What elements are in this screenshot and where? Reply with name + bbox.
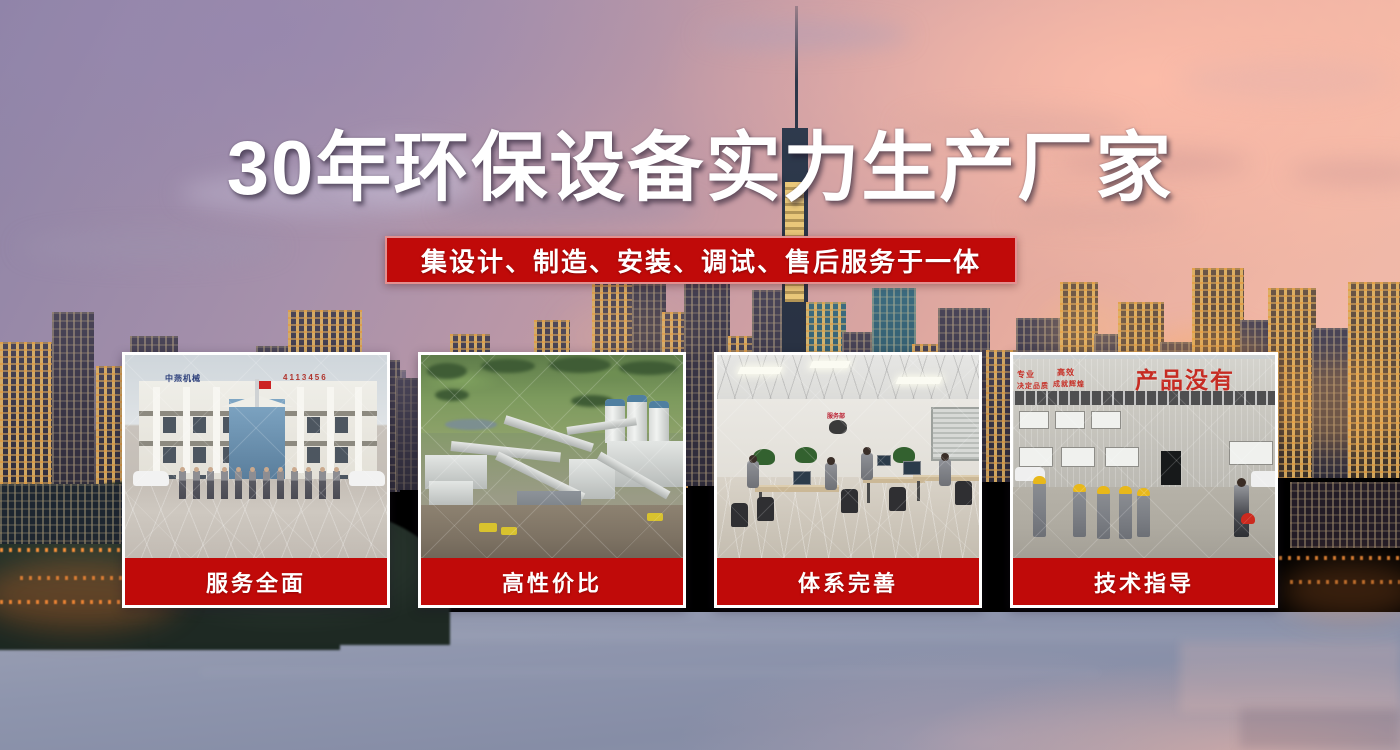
caption-bar-4: 技术指导 (1013, 558, 1275, 605)
office-worker (939, 459, 951, 486)
parked-car (1251, 471, 1275, 487)
office-worker (747, 461, 759, 488)
staff-person (207, 471, 214, 499)
office-chair (841, 489, 858, 513)
factory-door (1161, 451, 1181, 485)
window-blinds (931, 407, 979, 461)
factory-sign-small-2: 决定品质 (1017, 381, 1049, 391)
photo-industrial-plant (421, 355, 683, 558)
plant-yard (421, 505, 683, 558)
parked-car (133, 471, 169, 486)
wall-plaque: 服务部 (821, 411, 855, 437)
ceiling-light (809, 361, 850, 368)
ceiling-light (737, 367, 782, 374)
worker (1073, 491, 1086, 537)
building-sign-phone: 4113456 (283, 373, 328, 382)
staff-person (277, 471, 284, 499)
staff-person (235, 471, 242, 499)
feature-card-3[interactable]: 服务部 (714, 352, 982, 608)
worker (1033, 483, 1046, 537)
feature-card-4[interactable]: 产品没有 专业 决定品质 高效 成就辉煌 (1010, 352, 1278, 608)
monitor (793, 471, 811, 485)
pond (445, 419, 497, 430)
office-chair (889, 487, 906, 511)
feature-card-row: 中燕机械 4113456 服务全面 (122, 352, 1278, 608)
photo-company-building: 中燕机械 4113456 (125, 355, 387, 558)
caption-bar-3: 体系完善 (717, 558, 979, 605)
building-sign-company: 中燕机械 (165, 373, 201, 384)
staff-person (249, 471, 256, 499)
factory-window (1061, 447, 1095, 467)
staff-person (221, 471, 228, 499)
staff-person (179, 471, 186, 499)
staff-person (291, 471, 298, 499)
staff-person (333, 471, 340, 499)
office-worker (825, 463, 837, 490)
photo-worker-briefing: 产品没有 专业 决定品质 高效 成就辉煌 (1013, 355, 1275, 558)
ceiling-light (895, 377, 942, 384)
red-helmet (1241, 513, 1255, 524)
office-chair (757, 497, 774, 521)
staff-person (305, 471, 312, 499)
hero-banner: 30年环保设备实力生产厂家 集设计、制造、安装、调试、售后服务于一体 (0, 0, 1400, 750)
factory-window (1229, 441, 1273, 465)
parked-car (349, 471, 385, 486)
loader-vehicle (479, 523, 497, 532)
worker (1119, 493, 1132, 539)
factory-sign-small-3: 高效 (1057, 367, 1075, 378)
caption-bar-1: 服务全面 (125, 558, 387, 605)
photo-office-interior: 服务部 (717, 355, 979, 558)
plant-shed (429, 481, 473, 507)
office-chair (731, 503, 748, 527)
subtitle-banner: 集设计、制造、安装、调试、售后服务于一体 (385, 236, 1017, 284)
flag (259, 381, 271, 389)
factory-window (1019, 411, 1049, 429)
staff-person (319, 471, 326, 499)
loader-vehicle (647, 513, 663, 521)
caption-bar-2: 高性价比 (421, 558, 683, 605)
loader-vehicle (501, 527, 517, 535)
feature-card-1[interactable]: 中燕机械 4113456 服务全面 (122, 352, 390, 608)
tower-antenna (795, 6, 798, 132)
factory-window (1105, 447, 1139, 467)
supervisor (1234, 485, 1249, 537)
caption-text-1: 服务全面 (206, 566, 306, 598)
caption-text-4: 技术指导 (1094, 566, 1194, 598)
feature-card-2[interactable]: 高性价比 (418, 352, 686, 608)
office-chair (955, 481, 972, 505)
factory-sign-main: 产品没有 (1135, 361, 1235, 395)
factory-window (1019, 447, 1053, 467)
office-worker (861, 453, 873, 480)
monitor (877, 455, 891, 466)
wall-vent-strip (1013, 391, 1275, 405)
factory-sign-small-4: 成就辉煌 (1053, 379, 1085, 389)
courtyard-pavement (125, 479, 387, 558)
factory-window (1091, 411, 1121, 429)
factory-window (1055, 411, 1085, 429)
factory-sign-small-1: 专业 (1017, 369, 1035, 380)
caption-text-2: 高性价比 (502, 566, 602, 598)
staff-person (193, 471, 200, 499)
monitor (903, 461, 921, 475)
potted-plant (795, 447, 817, 463)
page-title: 30年环保设备实力生产厂家 (0, 131, 1400, 207)
worker (1097, 493, 1110, 539)
silo (649, 401, 669, 443)
staff-person (263, 471, 270, 499)
wall-plaque-text: 服务部 (827, 411, 845, 420)
worker (1137, 495, 1150, 537)
subtitle-text: 集设计、制造、安装、调试、售后服务于一体 (421, 242, 981, 279)
caption-text-3: 体系完善 (798, 566, 898, 598)
